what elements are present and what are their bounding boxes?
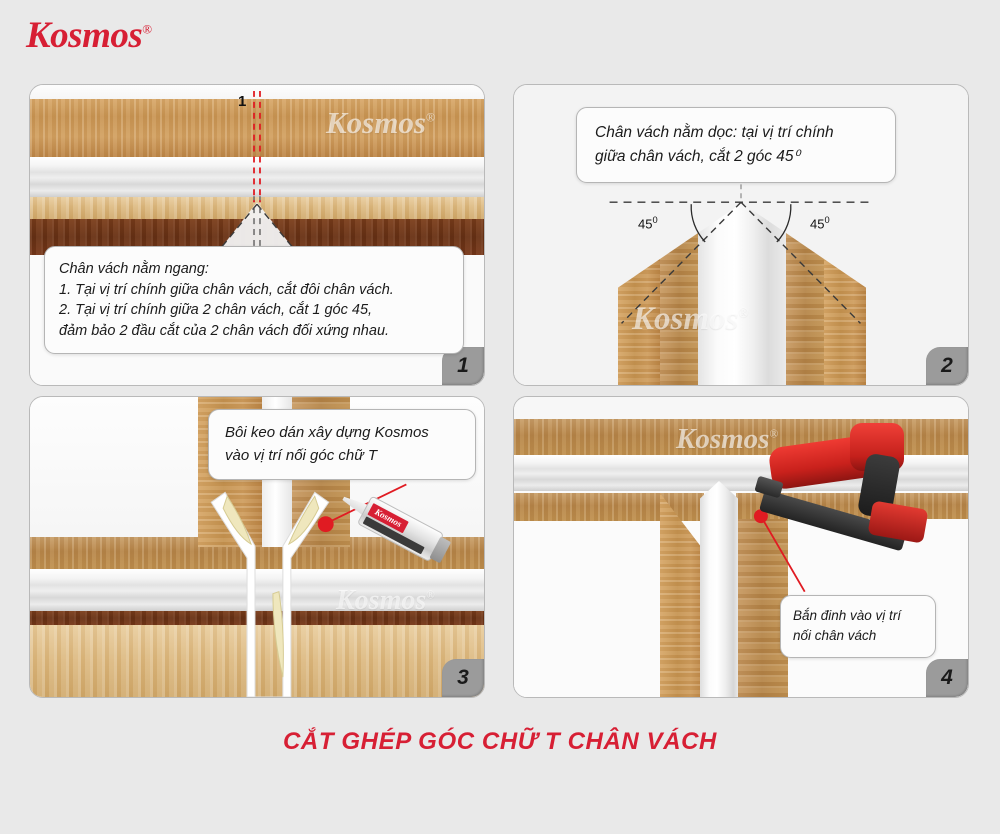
callout-line: giữa chân vách, cắt 2 góc 45⁰	[595, 145, 877, 169]
nail-gun	[754, 401, 946, 551]
white-vertical-skirting	[698, 203, 786, 385]
panel-3-scene: Kosmos Kosmos® Bôi keo dán xây dựng Kosm…	[30, 397, 484, 697]
wood-band-upper	[30, 99, 484, 157]
panel-4-callout: Bắn đinh vào vị trí nối chân vách	[780, 595, 936, 658]
wood-band-dark	[30, 611, 484, 625]
callout-line: Chân vách nằm ngang:	[59, 259, 449, 280]
panel-1-callout: Chân vách nằm ngang: 1. Tại vị trí chính…	[44, 246, 464, 354]
callout-line: 2. Tại vị trí chính giữa 2 chân vách, cắ…	[59, 300, 449, 321]
panel-1: Kosmos® 1 2 2 450 450 Chân vách nằm ngan…	[29, 84, 485, 386]
callout-line: nối chân vách	[793, 626, 923, 646]
angle-label-right: 450	[810, 215, 830, 231]
callout-line: Bắn đinh vào vị trí	[793, 606, 923, 626]
callout-line: Bôi keo dán xây dựng Kosmos	[225, 422, 459, 445]
panel-number-badge: 2	[926, 347, 968, 385]
panel-3-callout: Bôi keo dán xây dựng Kosmos vào vị trí n…	[208, 409, 476, 480]
panel-3: Kosmos Kosmos® Bôi keo dán xây dựng Kosm…	[29, 396, 485, 698]
callout-line: Chân vách nằm dọc: tại vị trí chính	[595, 121, 877, 145]
skirting-board	[30, 157, 484, 197]
callout-line: vào vị trí nối góc chữ T	[225, 445, 459, 468]
panel-number-badge: 3	[442, 659, 484, 697]
panel-4: Kosmos®	[513, 396, 969, 698]
panel-4-scene: Kosmos®	[514, 397, 968, 697]
page-title: CẮT GHÉP GÓC CHỮ T CHÂN VÁCH	[0, 728, 1000, 756]
wall-upper	[30, 85, 484, 99]
callout-line: đảm bảo 2 đầu cắt của 2 chân vách đối xứ…	[59, 321, 449, 342]
panel-1-scene: Kosmos® 1 2 2 450 450 Chân vách nằm ngan…	[30, 85, 484, 385]
registered-mark: ®	[142, 22, 151, 37]
kosmos-logo: Kosmos®	[26, 14, 152, 57]
poster-root: Kosmos®	[0, 0, 1000, 834]
panel-2-scene: Kosmos® 450 450 Chân vách nằm dọc: tại v…	[514, 85, 968, 385]
brand-name: Kosmos	[26, 15, 142, 56]
panel-2: Kosmos® 450 450 Chân vách nằm dọc: tại v…	[513, 84, 969, 386]
vertical-skirting-column	[700, 481, 738, 697]
angle-label-left: 450	[638, 215, 658, 231]
floor-band	[30, 625, 484, 697]
floor-band	[30, 197, 484, 219]
panel-number-badge: 4	[926, 659, 968, 697]
callout-line: 1. Tại vị trí chính giữa chân vách, cắt …	[59, 280, 449, 301]
panel-2-callout: Chân vách nằm dọc: tại vị trí chính giữa…	[576, 107, 896, 183]
marker-label-1: 1	[238, 93, 246, 110]
